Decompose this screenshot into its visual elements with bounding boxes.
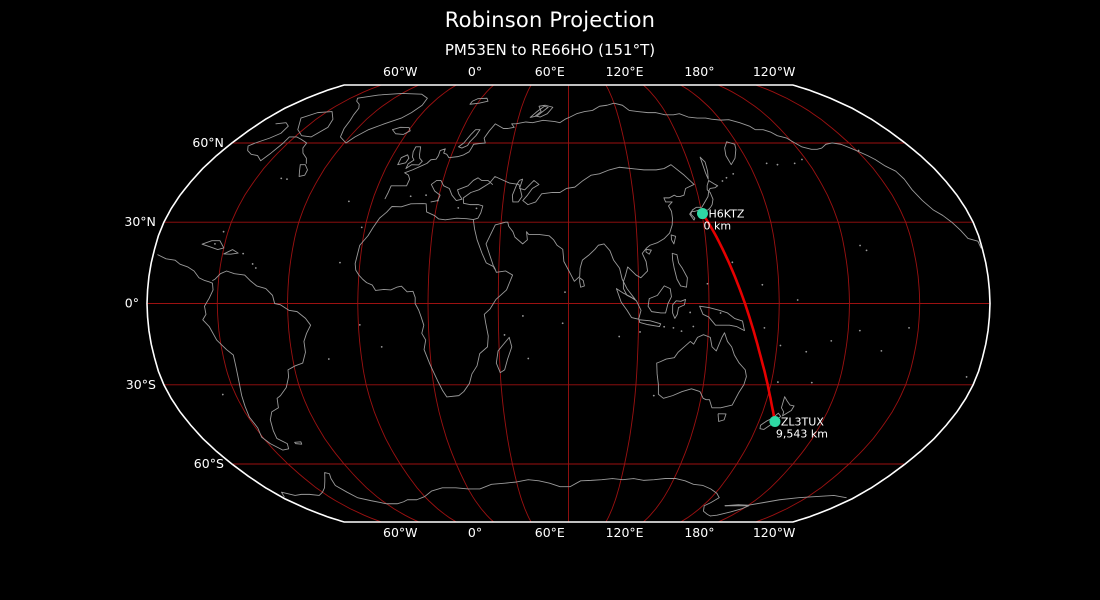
island-dot — [805, 351, 807, 353]
island-dot — [866, 250, 868, 252]
coastline-segment — [671, 235, 675, 244]
island-dot — [425, 194, 427, 196]
coastline-segment — [673, 299, 686, 318]
coastline-segment — [639, 320, 661, 327]
island-dot — [242, 253, 244, 255]
robinson-map[interactable]: H6KTZ0 kmZL3TUX9,543 km 0°60°E120°E180°1… — [0, 0, 1100, 600]
island-dot — [348, 200, 350, 202]
coastline-segment — [700, 306, 745, 330]
island-dot — [766, 162, 768, 164]
island-dot — [811, 382, 813, 384]
island-dot — [437, 200, 439, 202]
island-dot — [859, 245, 861, 247]
island-dot — [794, 162, 796, 164]
island-dot — [223, 231, 225, 233]
island-dot — [908, 327, 910, 329]
island-dot — [722, 180, 724, 182]
island-dot — [653, 395, 655, 397]
coastline-segment — [710, 506, 749, 516]
island-dot — [761, 284, 763, 286]
island-dot — [880, 350, 882, 352]
lon-tick-top: 60°E — [535, 64, 565, 79]
lon-tick-bottom: 60°E — [535, 525, 565, 540]
island-dot — [339, 262, 341, 264]
lat-tick: 30°N — [124, 214, 156, 229]
lon-tick-top: 60°W — [383, 64, 418, 79]
island-dot — [618, 336, 620, 338]
coastline-segment — [646, 249, 651, 254]
coastline-segment — [700, 157, 708, 179]
coastline-segment — [158, 255, 311, 450]
island-dot — [222, 394, 224, 396]
island-dot — [858, 150, 860, 152]
endpoint-layer[interactable]: H6KTZ0 kmZL3TUX9,543 km — [697, 208, 828, 441]
coastline-segment — [355, 204, 512, 397]
lon-tick-top: 120°E — [606, 64, 644, 79]
endpoint-marker-h6ktz[interactable] — [697, 208, 708, 219]
island-dot — [564, 291, 566, 293]
lon-tick-top: 120°W — [753, 64, 795, 79]
island-dot — [328, 358, 330, 360]
island-dot — [731, 261, 733, 263]
island-dot — [410, 195, 412, 197]
endpoint-marker-zl3tux[interactable] — [769, 416, 780, 427]
coastline-segment — [340, 93, 427, 143]
island-dot — [476, 208, 478, 210]
lon-tick-top: 180° — [684, 64, 714, 79]
lon-tick-bottom: 180° — [684, 525, 714, 540]
endpoint-distance-label: 0 km — [704, 220, 732, 233]
lat-tick: 30°S — [126, 377, 156, 392]
map-canvas: Robinson Projection PM53EN to RE66HO (15… — [0, 0, 1100, 600]
coastline-segment — [398, 155, 409, 165]
lon-tick-top: 0° — [468, 64, 482, 79]
coastline-segment — [530, 106, 548, 117]
coastline-segment — [202, 241, 224, 250]
island-dot — [689, 312, 691, 314]
lat-tick: 60°N — [192, 135, 224, 150]
island-dot — [859, 330, 861, 332]
island-dot — [527, 358, 529, 360]
coastline-segment — [392, 127, 410, 134]
island-dot — [777, 381, 779, 383]
coastline-segment — [718, 414, 726, 422]
island-dot — [361, 226, 363, 228]
island-dot — [359, 324, 361, 326]
island-dot — [830, 340, 832, 342]
island-dot — [214, 243, 216, 245]
island-dot — [457, 207, 459, 209]
lon-tick-bottom: 120°W — [753, 525, 795, 540]
coastline-segment — [281, 473, 719, 516]
island-dot — [252, 263, 254, 265]
island-dot — [639, 331, 641, 333]
island-dot — [707, 283, 709, 285]
island-dot — [681, 330, 683, 332]
lon-tick-bottom: 120°E — [606, 525, 644, 540]
island-dot — [732, 173, 734, 175]
coastline-segment — [781, 397, 794, 416]
island-dot — [673, 327, 675, 329]
great-circle-path — [702, 214, 774, 422]
island-dot — [801, 159, 803, 161]
island-dot — [764, 327, 766, 329]
coastline-segment — [725, 142, 736, 165]
endpoint-distance-label: 9,543 km — [776, 428, 828, 441]
island-dot — [780, 345, 782, 347]
island-dot — [504, 334, 506, 336]
coastline-segment — [224, 250, 238, 255]
island-dot — [797, 299, 799, 301]
island-dot — [255, 267, 257, 269]
coastline-segment — [299, 165, 307, 177]
lon-tick-bottom: 60°W — [383, 525, 418, 540]
coastline-segment — [295, 442, 302, 444]
island-dot — [663, 326, 665, 328]
island-dot — [777, 164, 779, 166]
island-dot — [726, 177, 728, 179]
island-dot — [280, 177, 282, 179]
coastline-layer — [158, 93, 981, 516]
coastline-segment — [580, 278, 585, 287]
lat-tick: 60°S — [194, 456, 224, 471]
island-dot — [286, 178, 288, 180]
lat-tick: 0° — [125, 296, 139, 311]
coastline-segment — [463, 165, 694, 300]
coastline-segment — [459, 130, 480, 148]
route-segment — [702, 214, 774, 422]
coastline-segment — [725, 495, 846, 505]
island-dot — [720, 312, 722, 314]
island-dot — [966, 376, 968, 378]
coastline-segment — [648, 286, 671, 313]
coastline-segment — [672, 253, 687, 287]
island-dot — [562, 322, 564, 324]
island-dot — [522, 315, 524, 317]
lon-tick-bottom: 0° — [468, 525, 482, 540]
coastline-segment — [298, 112, 333, 137]
island-dot — [692, 326, 694, 328]
island-dot — [381, 346, 383, 348]
